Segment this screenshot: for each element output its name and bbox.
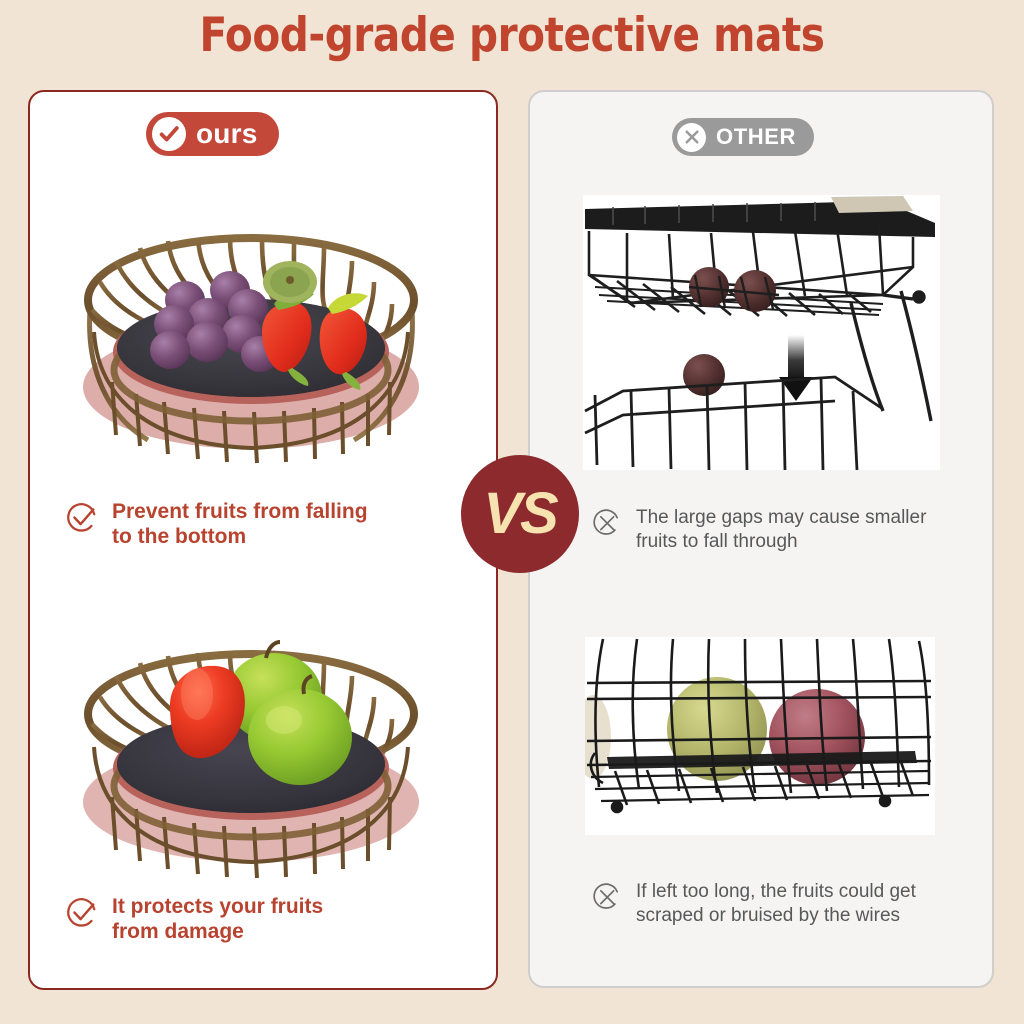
other-top-caption: The large gaps may cause smaller fruits … [592, 506, 982, 554]
x-circle-outline-icon [592, 508, 622, 543]
other-bottom-photo [585, 637, 935, 835]
other-top-photo [583, 195, 940, 470]
ours-top-photo [52, 182, 450, 470]
ours-badge-label: ours [196, 120, 257, 148]
other-bottom-caption-text: If left too long, the fruits could get s… [636, 880, 916, 928]
check-circle-outline-icon [66, 502, 98, 539]
other-badge: OTHER [672, 118, 814, 156]
other-bottom-caption: If left too long, the fruits could get s… [592, 880, 982, 928]
other-top-caption-text: The large gaps may cause smaller fruits … [636, 506, 926, 554]
other-badge-label: OTHER [716, 126, 796, 148]
x-circle-icon [677, 123, 706, 152]
vs-label: VS [483, 485, 556, 543]
ours-bottom-caption-text: It protects your fruits from damage [112, 895, 323, 945]
ours-bottom-photo [52, 602, 450, 882]
ours-top-caption: Prevent fruits from falling to the botto… [66, 500, 466, 550]
check-circle-icon [152, 117, 186, 151]
x-circle-outline-icon [592, 882, 622, 917]
vs-badge: VS [461, 455, 579, 573]
ours-bottom-caption: It protects your fruits from damage [66, 895, 466, 945]
page-title: Food-grade protective mats [20, 8, 1003, 63]
check-circle-outline-icon [66, 897, 98, 934]
ours-badge: ours [146, 112, 279, 156]
ours-top-caption-text: Prevent fruits from falling to the botto… [112, 500, 368, 550]
